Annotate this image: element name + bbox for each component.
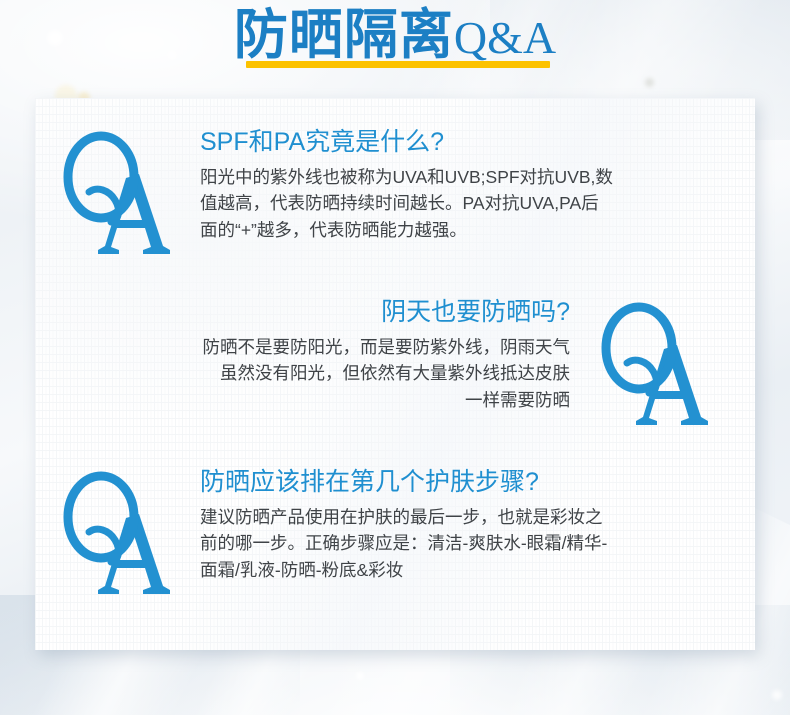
bokeh-dot-7 [356, 672, 364, 680]
content-card: SPF和PA究竟是什么? 阳光中的紫外线也被称为UVA和UVB;SPF对抗UVB… [35, 98, 755, 650]
qa-item-3-body-line-3: 面霜/乳液-防晒-粉底&彩妆 [200, 557, 720, 584]
qa-item-3-body-line-2: 前的哪一步。正确步骤应是：清洁-爽肤水-眼霜/精华- [200, 530, 720, 557]
qa-item-3: 防晒应该排在第几个护肤步骤? 建议防晒产品使用在护肤的最后一步，也就是彩妆之 前… [200, 468, 720, 583]
qa-item-1-body: 阳光中的紫外线也被称为UVA和UVB;SPF对抗UVB,数 值越高，代表防晒持续… [200, 164, 700, 244]
qa-item-1-heading: SPF和PA究竟是什么? [200, 128, 700, 158]
qa-item-3-body: 建议防晒产品使用在护肤的最后一步，也就是彩妆之 前的哪一步。正确步骤应是：清洁-… [200, 504, 720, 584]
qa-item-3-body-line-1: 建议防晒产品使用在护肤的最后一步，也就是彩妆之 [200, 504, 720, 531]
qa-mark-icon [57, 130, 175, 258]
title-text-en: Q&A [454, 12, 556, 63]
qa-mark-icon [595, 301, 713, 429]
qa-item-1: SPF和PA究竟是什么? 阳光中的紫外线也被称为UVA和UVB;SPF对抗UVB… [200, 128, 700, 243]
qa-item-3-heading: 防晒应该排在第几个护肤步骤? [200, 468, 720, 498]
qa-item-1-body-line-3: 面的“+”越多，代表防晒能力越强。 [200, 217, 700, 244]
qa-item-2-heading: 阴天也要防晒吗? [50, 298, 570, 328]
qa-item-2-body-line-1: 防晒不是要防阳光，而是要防紫外线，阴雨天气 [50, 334, 570, 361]
bokeh-dot-5 [645, 78, 654, 87]
title-text-cn: 防晒隔离 [234, 5, 454, 65]
bokeh-dot-8 [772, 690, 782, 700]
qa-item-2-body-line-2: 虽然没有阳光，但依然有大量紫外线抵达皮肤 [50, 360, 570, 387]
qa-mark-icon [57, 470, 175, 598]
poster-title: 防晒隔离Q&A [0, 8, 790, 62]
qa-item-1-body-line-1: 阳光中的紫外线也被称为UVA和UVB;SPF对抗UVB,数 [200, 164, 700, 191]
qa-item-2-body-line-3: 一样需要防晒 [50, 387, 570, 414]
qa-item-1-body-line-2: 值越高，代表防晒持续时间越长。PA对抗UVA,PA后 [200, 190, 700, 217]
qa-item-2: 阴天也要防晒吗? 防晒不是要防阳光，而是要防紫外线，阴雨天气 虽然没有阳光，但依… [50, 298, 570, 413]
sunscreen-qa-poster: 防晒隔离Q&A [0, 0, 790, 715]
qa-item-2-body: 防晒不是要防阳光，而是要防紫外线，阴雨天气 虽然没有阳光，但依然有大量紫外线抵达… [50, 334, 570, 414]
